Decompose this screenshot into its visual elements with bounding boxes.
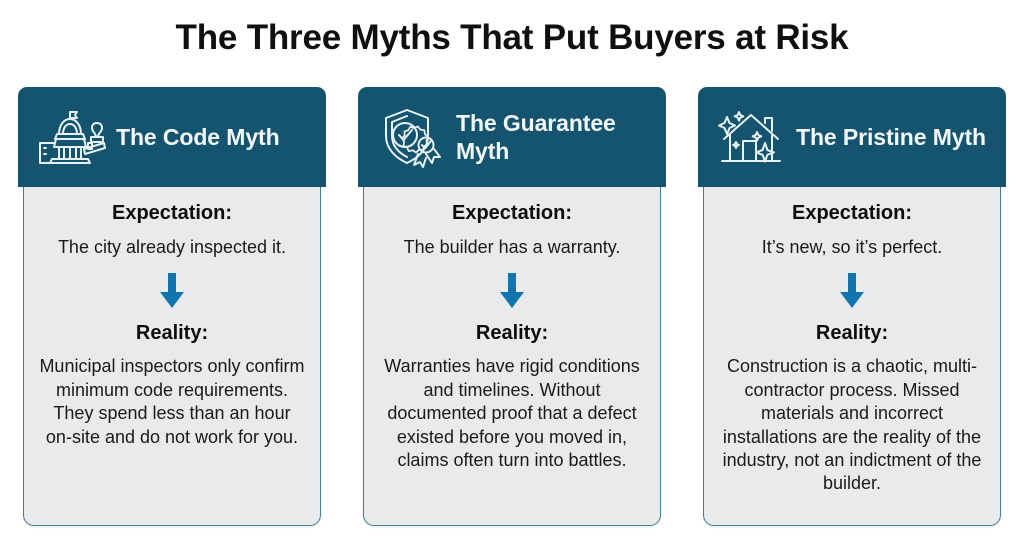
sparkling-house-icon [714, 101, 786, 173]
card-title: The Code Myth [116, 123, 280, 151]
down-arrow-icon [159, 273, 185, 309]
capitol-stamp-icon [34, 101, 106, 173]
expectation-text: The builder has a warranty. [374, 236, 650, 259]
card-body: Expectation: It’s new, so it’s perfect. … [703, 187, 1001, 526]
card-body: Expectation: The city already inspected … [23, 187, 321, 526]
card-header: The Code Myth [18, 87, 326, 187]
down-arrow-icon [499, 273, 525, 309]
card-header: The Guarantee Myth [358, 87, 666, 187]
expectation-text: The city already inspected it. [34, 236, 310, 259]
card-title: The Pristine Myth [796, 123, 986, 151]
card-header: The Pristine Myth [698, 87, 1006, 187]
card-body: Expectation: The builder has a warranty.… [363, 187, 661, 526]
down-arrow-icon [839, 273, 865, 309]
expectation-label: Expectation: [374, 201, 650, 226]
reality-label: Reality: [374, 321, 650, 346]
card-title: The Guarantee Myth [456, 109, 656, 165]
infographic-page: The Three Myths That Put Buyers at Risk [0, 0, 1024, 540]
myth-card-code: The Code Myth Expectation: The city alre… [18, 87, 326, 526]
myth-card-pristine: The Pristine Myth Expectation: It’s new,… [698, 87, 1006, 526]
reality-text: Warranties have rigid conditions and tim… [374, 355, 650, 472]
reality-text: Municipal inspectors only confirm minimu… [34, 355, 310, 449]
expectation-label: Expectation: [34, 201, 310, 226]
myth-card-list: The Code Myth Expectation: The city alre… [18, 87, 1006, 526]
shield-badge-icon [374, 101, 446, 173]
expectation-text: It’s new, so it’s perfect. [714, 236, 990, 259]
reality-label: Reality: [34, 321, 310, 346]
reality-label: Reality: [714, 321, 990, 346]
expectation-label: Expectation: [714, 201, 990, 226]
myth-card-guarantee: The Guarantee Myth Expectation: The buil… [358, 87, 666, 526]
page-title: The Three Myths That Put Buyers at Risk [0, 18, 1024, 58]
reality-text: Construction is a chaotic, multi-contrac… [714, 355, 990, 495]
